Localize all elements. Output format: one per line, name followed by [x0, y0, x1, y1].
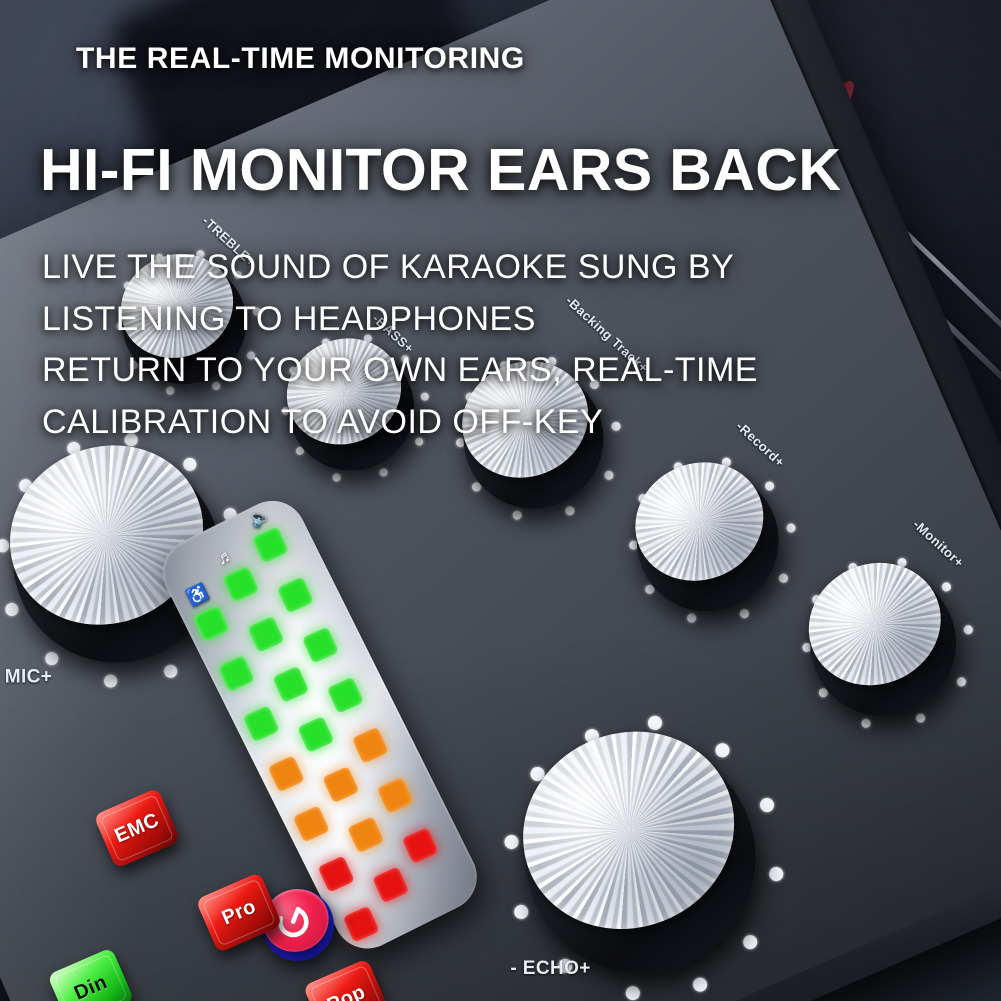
key-label: EMC — [111, 808, 162, 847]
body-line: CALIBRATION TO AVOID OFF-KEY — [42, 397, 922, 449]
led-cell — [372, 866, 409, 903]
page-title: HI-FI MONITOR EARS BACK — [40, 136, 841, 204]
led-cell — [318, 856, 355, 893]
led-cell — [277, 576, 314, 613]
headphone-icon: ♿ — [184, 583, 211, 608]
led-cell — [222, 566, 259, 603]
led-cell — [343, 906, 380, 943]
kicker-label: THE REAL-TIME MONITORING — [76, 42, 525, 75]
led-cell — [268, 755, 305, 792]
led-cell — [293, 805, 330, 842]
body-line: LIVE THE SOUND OF KARAOKE SUNG BY — [42, 242, 922, 294]
led-cell — [402, 827, 439, 864]
led-cell — [272, 666, 309, 703]
music-note-icon: ♬ — [214, 545, 237, 568]
body-line: LISTENING TO HEADPHONES — [42, 294, 922, 346]
key-label: Din — [71, 971, 111, 1001]
promo-banner: L R — [0, 0, 1001, 1001]
knob-label-echo: - ECHO+ — [510, 958, 590, 980]
led-cell — [302, 627, 339, 664]
key-label: Pro — [218, 895, 259, 930]
microphone-icon: 🔈 — [246, 505, 273, 530]
led-cell — [247, 616, 284, 653]
led-cell — [243, 705, 280, 742]
key-label: Pop — [324, 980, 369, 1001]
led-cell — [322, 766, 359, 803]
led-cell — [377, 777, 414, 814]
led-cell — [347, 816, 384, 853]
body-line: RETURN TO YOUR OWN EARS, REAL-TIME — [42, 345, 922, 397]
led-cell — [327, 677, 364, 714]
knob-label-mic: - MIC+ — [0, 666, 52, 688]
led-cell — [252, 526, 289, 563]
led-cell — [352, 727, 389, 764]
headline-label: HI-FI MONITOR EARS BACK — [40, 137, 841, 203]
kicker-text: THE REAL-TIME MONITORING — [76, 42, 525, 76]
led-cell — [218, 655, 255, 692]
body-copy: LIVE THE SOUND OF KARAOKE SUNG BY LISTEN… — [42, 242, 922, 449]
led-cell — [193, 605, 230, 642]
led-cell — [297, 716, 334, 753]
